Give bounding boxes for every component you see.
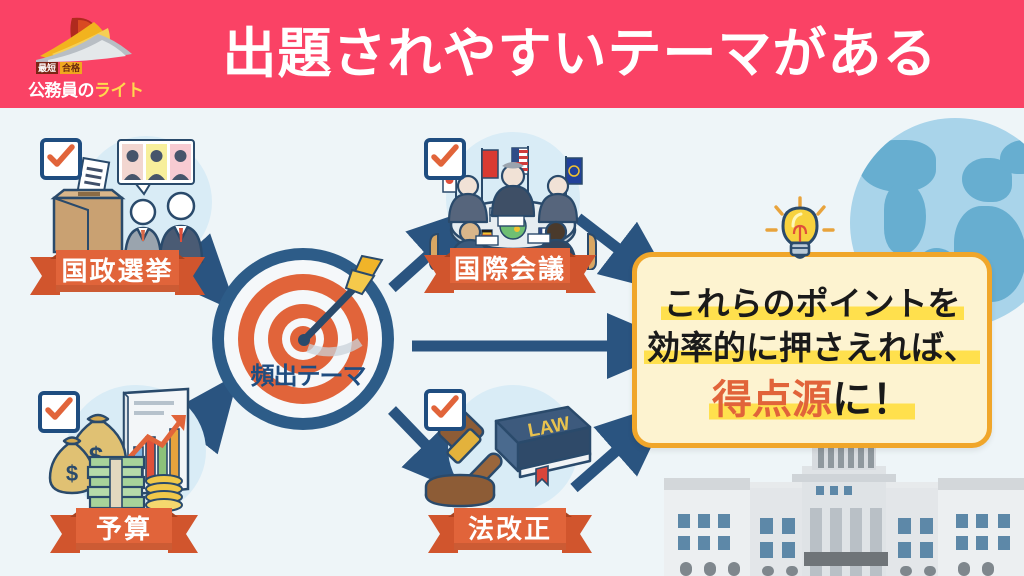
infographic-canvas: 国政選挙 [0, 0, 1024, 576]
logo-tagline: 最短 合格 [36, 62, 82, 74]
checkmark-icon [38, 391, 80, 433]
topic-ribbon-national-election: 国政選挙 [30, 250, 205, 292]
checkmark-icon [424, 389, 466, 431]
topic-ribbon-international-conference: 国際会議 [424, 248, 596, 290]
topic-label: 予算 [76, 508, 172, 550]
topic-label: 法改正 [454, 508, 566, 550]
callout-line-2: 効率的に押さえれば、 [637, 321, 987, 369]
logo-tag-1: 最短 [36, 62, 58, 74]
page-header: 最短 合格 公務員のライト 出題されやすいテーマがある [0, 0, 1024, 108]
topic-illustration-law-revision: LAW [410, 385, 610, 517]
checkmark-icon [424, 138, 466, 180]
callout-line-3: 得点源に！ [637, 367, 987, 425]
callout-line-1: これらのポイントを [637, 277, 987, 325]
center-label: 頻出テーマ [212, 356, 404, 391]
callout-line-3-rest: に！ [832, 378, 912, 422]
checkmark-icon [40, 138, 82, 180]
conclusion-callout: これらのポイントを 効率的に押さえれば、 得点源に！ [632, 252, 992, 448]
frequent-themes-target: 頻出テーマ [212, 248, 404, 430]
logo-name-part2: ライト [94, 81, 144, 100]
topic-label: 国際会議 [450, 248, 570, 290]
brand-logo[interactable]: 最短 合格 公務員のライト [22, 14, 150, 98]
topic-illustration-budget: $ $ [30, 385, 240, 517]
svg-text:$: $ [66, 461, 78, 486]
topic-label: 国政選挙 [56, 250, 179, 292]
callout-highlight-term: 得点源 [712, 378, 832, 422]
topic-ribbon-law-revision: 法改正 [428, 508, 592, 550]
lightbulb-icon [762, 196, 838, 266]
logo-tag-2: 合格 [60, 62, 82, 74]
wing-mark-icon [30, 14, 142, 62]
logo-name: 公務員のライト [28, 76, 144, 101]
logo-name-part1: 公務員の [28, 81, 94, 100]
topic-ribbon-budget: 予算 [50, 508, 198, 550]
page-title: 出題されやすいテーマがある [170, 18, 990, 90]
